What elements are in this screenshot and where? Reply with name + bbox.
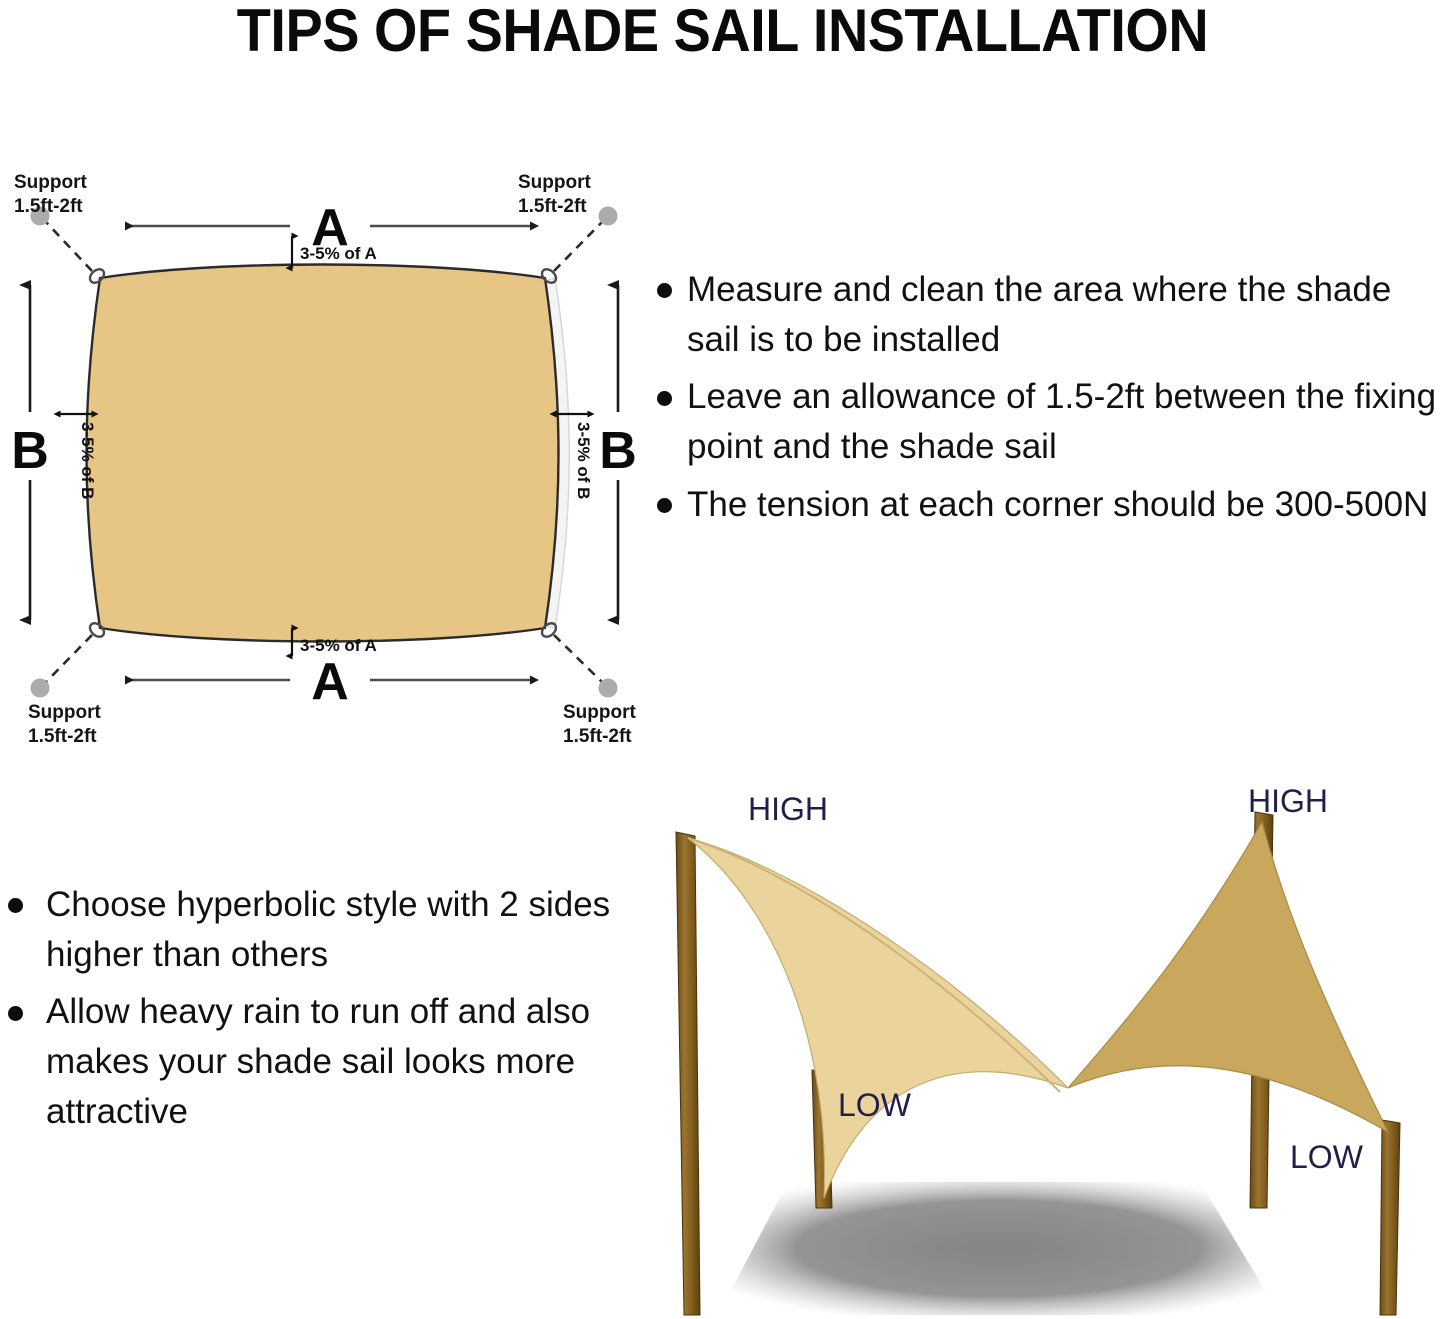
support-label-bottom-left: Support 1.5ft-2ft — [28, 702, 101, 747]
tips-list-top: Measure and clean the area where the sha… — [645, 265, 1445, 665]
support-label-top-left: Support 1.5ft-2ft — [14, 172, 87, 217]
post-high-left — [676, 832, 700, 1315]
sail-panel-front — [688, 838, 1068, 1198]
tip-item: Leave an allowance of 1.5-2ft between th… — [645, 372, 1445, 471]
hyperbolic-sail-diagram: HIGH HIGH LOW LOW — [640, 770, 1445, 1319]
tip-text: Measure and clean the area where the sha… — [687, 270, 1391, 359]
label-high-left: HIGH — [748, 791, 828, 827]
support-label-bottom-right: Support 1.5ft-2ft — [563, 702, 636, 747]
bullet-dot-icon — [8, 898, 23, 913]
tolerance-b-right-label: 3-5% of B — [574, 422, 593, 499]
ground-shadow — [718, 1182, 1280, 1315]
tolerance-a-top-label: 3-5% of A — [300, 244, 377, 263]
leader-top-left — [46, 222, 92, 271]
support-dot-top-right — [599, 207, 618, 226]
label-high-right: HIGH — [1248, 783, 1328, 819]
label-low-right: LOW — [1290, 1139, 1364, 1175]
support-bottom-right-line1: Support — [563, 702, 636, 723]
dimension-b-right: B — [599, 285, 637, 620]
leader-bottom-right — [554, 635, 602, 682]
support-bottom-right-line2: 1.5ft-2ft — [563, 726, 632, 747]
support-dot-bottom-left — [31, 679, 50, 698]
tip-item: Choose hyperbolic style with 2 sides hig… — [0, 880, 625, 979]
sail-panel-back — [1068, 822, 1388, 1132]
tip-item: The tension at each corner should be 300… — [645, 480, 1445, 530]
support-dot-bottom-right — [599, 679, 618, 698]
dimension-b-left-label: B — [11, 422, 49, 480]
support-label-top-right: Support 1.5ft-2ft — [518, 172, 591, 217]
bullet-dot-icon — [8, 1006, 23, 1021]
tips-list-bottom: Choose hyperbolic style with 2 sides hig… — [0, 880, 625, 1210]
tolerance-b-left: 3-5% of B — [60, 414, 97, 499]
shade-sail-shape — [87, 265, 559, 642]
tip-item: Measure and clean the area where the sha… — [645, 265, 1445, 364]
dimension-b-left: B — [11, 285, 49, 620]
tip-text: Choose hyperbolic style with 2 sides hig… — [46, 885, 610, 974]
tip-text: Allow heavy rain to run off and also mak… — [46, 992, 590, 1130]
post-low-right — [1380, 1120, 1400, 1315]
support-top-right-line2: 1.5ft-2ft — [518, 196, 587, 217]
support-top-left-line2: 1.5ft-2ft — [14, 196, 83, 217]
tolerance-a-bottom-label: 3-5% of A — [300, 636, 377, 655]
bullet-dot-icon — [657, 391, 672, 406]
tip-item: Allow heavy rain to run off and also mak… — [0, 987, 625, 1136]
dimension-b-right-label: B — [599, 422, 637, 480]
support-bottom-left-line2: 1.5ft-2ft — [28, 726, 97, 747]
label-low-left: LOW — [838, 1087, 912, 1123]
tip-text: Leave an allowance of 1.5-2ft between th… — [687, 377, 1436, 466]
support-top-left-line1: Support — [14, 172, 87, 193]
tolerance-b-left-label: 3-5% of B — [78, 422, 97, 499]
support-top-right-line1: Support — [518, 172, 591, 193]
page-title: TIPS OF SHADE SAIL INSTALLATION — [51, 0, 1395, 65]
leader-top-right — [554, 222, 602, 271]
dimension-a-bottom: A — [125, 653, 530, 711]
tip-text: The tension at each corner should be 300… — [687, 485, 1428, 524]
rectangular-sail-diagram: A 3-5% of A A 3-5% of A B 3-5% of B — [0, 150, 660, 750]
dimension-a-bottom-label: A — [311, 653, 349, 711]
bullet-dot-icon — [657, 283, 672, 298]
leader-bottom-left — [46, 635, 92, 682]
bullet-dot-icon — [657, 498, 672, 513]
support-bottom-left-line1: Support — [28, 702, 101, 723]
